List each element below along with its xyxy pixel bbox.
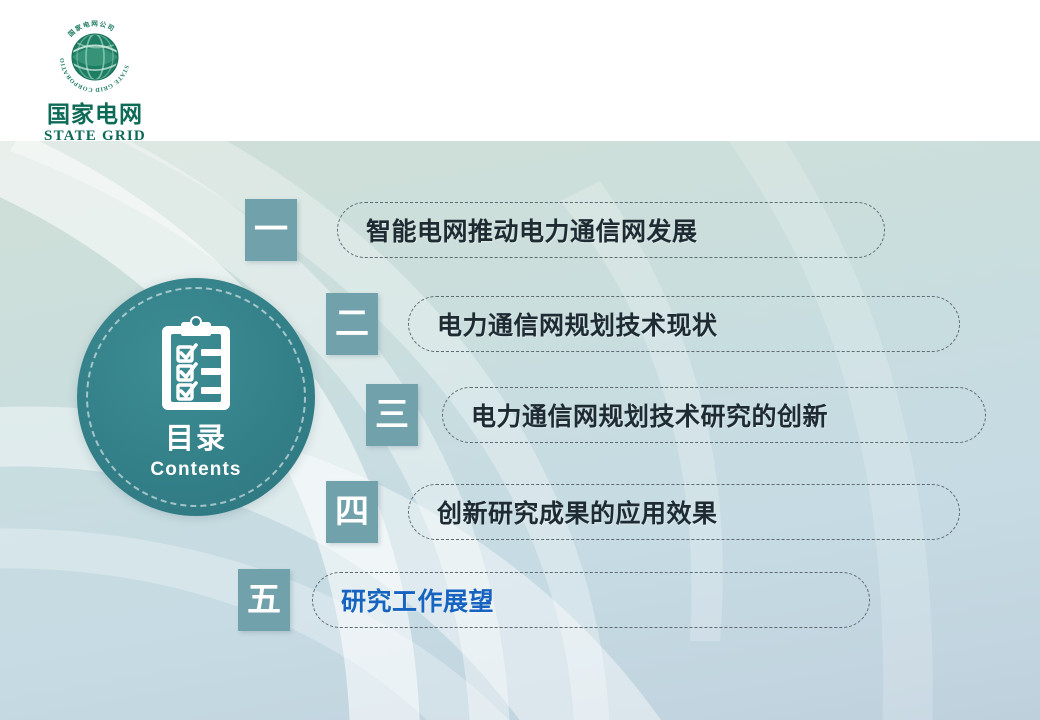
toc-item-1[interactable]: 一 智能电网推动电力通信网发展 [245,199,885,261]
brand-logo: STATE GRID CORPORATION OF CHINA 国家电网公司 国… [30,16,160,134]
toc-item-3[interactable]: 三 电力通信网规划技术研究的创新 [366,384,986,446]
toc-list: 一 智能电网推动电力通信网发展 二 电力通信网规划技术现状 三 电力通信网规划技… [0,141,1040,720]
toc-number-badge-1: 一 [245,199,297,261]
toc-label-4: 创新研究成果的应用效果 [437,494,718,530]
toc-number-badge-5: 五 [238,569,290,631]
toc-number-badge-3: 三 [366,384,418,446]
toc-item-4[interactable]: 四 创新研究成果的应用效果 [326,481,960,543]
toc-item-2[interactable]: 二 电力通信网规划技术现状 [326,293,960,355]
toc-label-2: 电力通信网规划技术现状 [437,306,718,342]
toc-pill-2[interactable]: 电力通信网规划技术现状 [408,296,960,352]
toc-number-badge-2: 二 [326,293,378,355]
toc-pill-3[interactable]: 电力通信网规划技术研究的创新 [442,387,986,443]
toc-label-3: 电力通信网规划技术研究的创新 [471,397,828,433]
brand-name-en: STATE GRID [30,129,160,144]
toc-label-1: 智能电网推动电力通信网发展 [366,212,698,248]
toc-pill-5[interactable]: 研究工作展望 [312,572,870,628]
toc-item-5[interactable]: 五 研究工作展望 [238,569,870,631]
brand-name-cn: 国家电网 [30,104,160,127]
slide-root: 目录 Contents 一 智能电网推动电力通信网发展 二 电力通信网规划技术现… [0,0,1040,720]
toc-pill-1[interactable]: 智能电网推动电力通信网发展 [337,202,885,258]
header-band: STATE GRID CORPORATION OF CHINA 国家电网公司 国… [0,0,1040,141]
toc-pill-4[interactable]: 创新研究成果的应用效果 [408,484,960,540]
toc-number-badge-4: 四 [326,481,378,543]
state-grid-globe-logo-icon: STATE GRID CORPORATION OF CHINA 国家电网公司 [54,16,136,98]
toc-label-5: 研究工作展望 [341,582,494,618]
